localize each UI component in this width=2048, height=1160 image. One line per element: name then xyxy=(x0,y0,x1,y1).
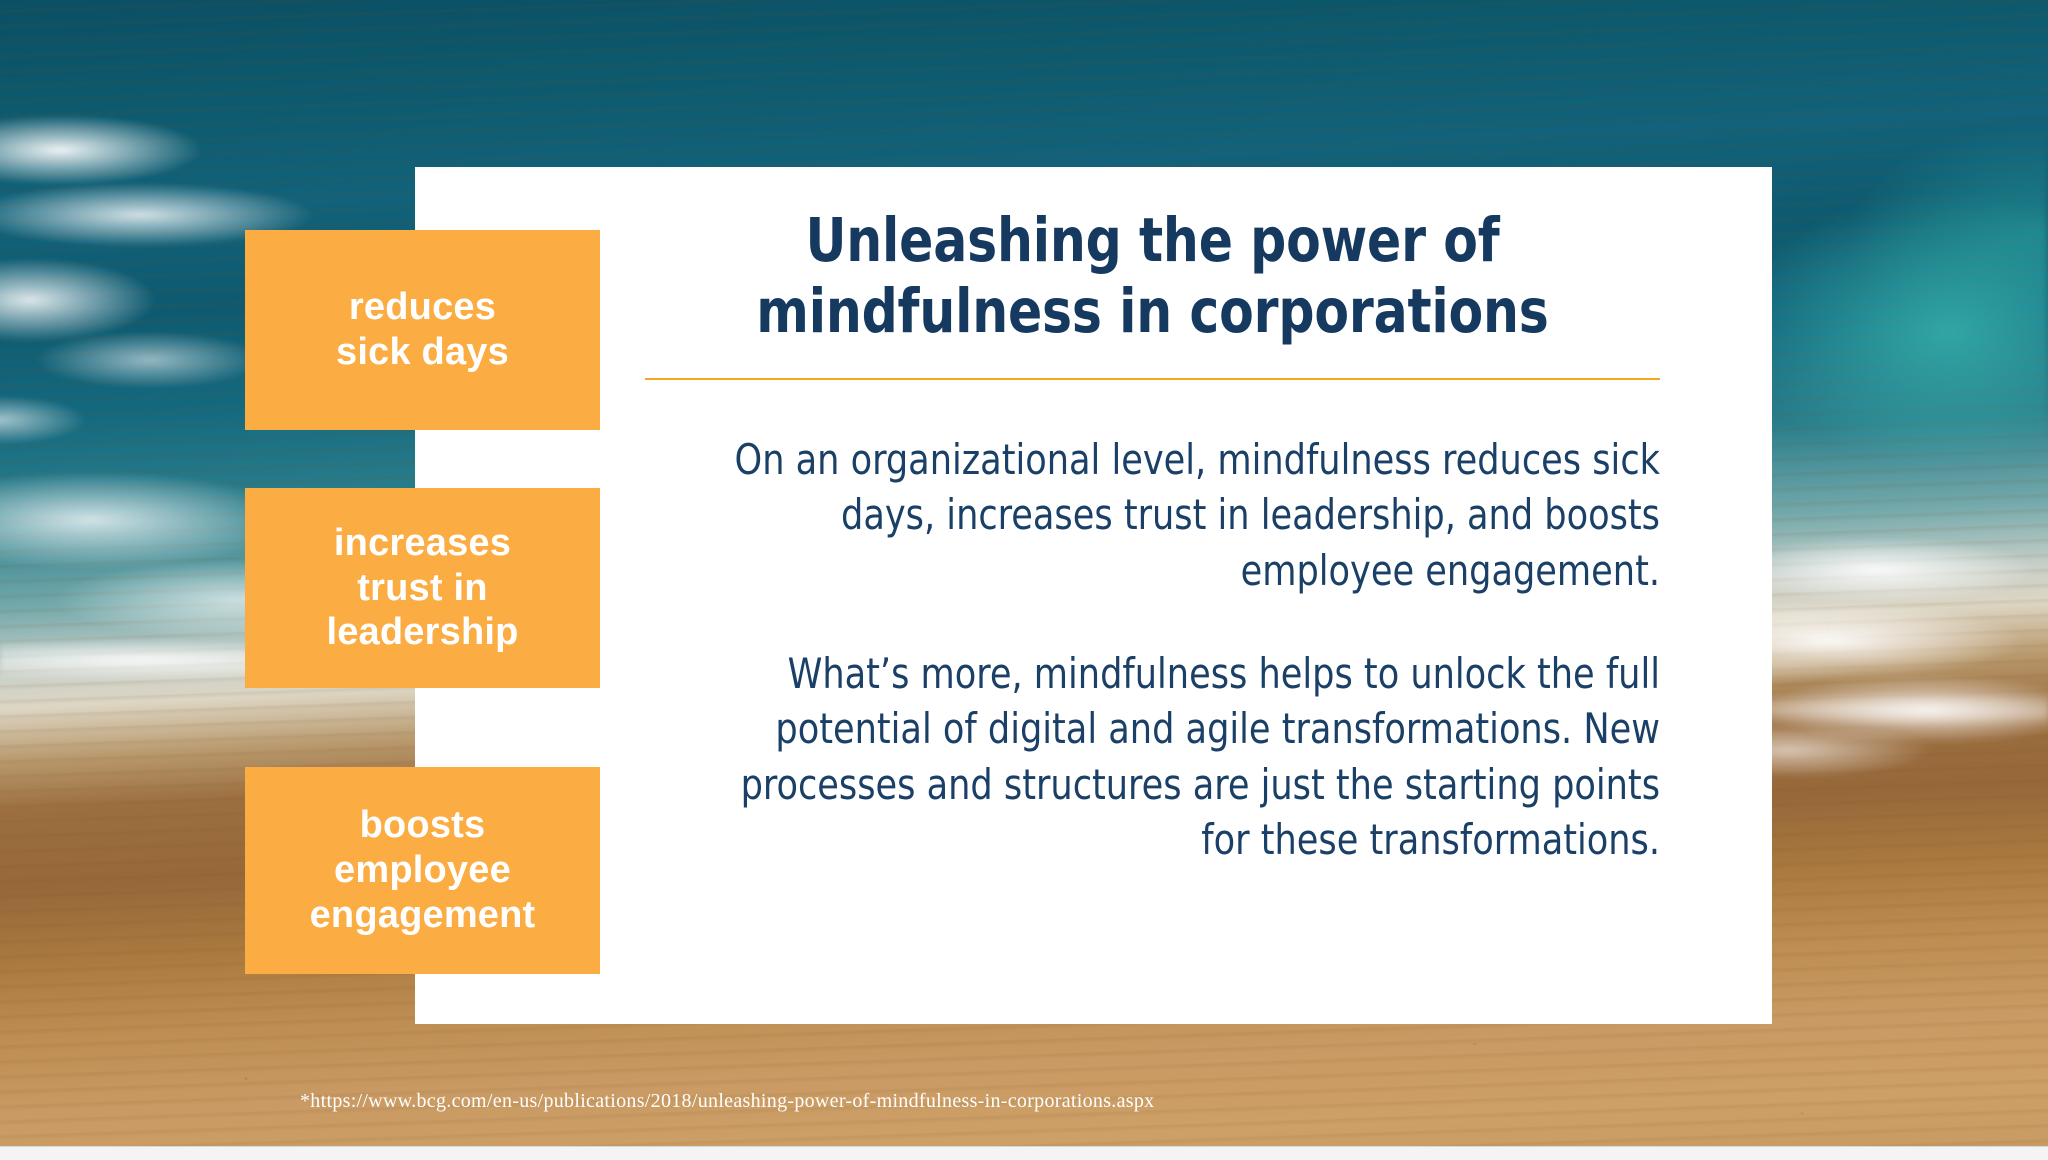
callout-line-3: engagement xyxy=(310,894,536,936)
callout-line-3: leadership xyxy=(326,611,518,653)
source-footnote: *https://www.bcg.com/en-us/publications/… xyxy=(300,1090,1154,1113)
callout-line-2: trust in xyxy=(357,567,487,609)
slide-canvas: Unleashing the power of mindfulness in c… xyxy=(0,0,2048,1160)
content-panel: Unleashing the power of mindfulness in c… xyxy=(415,167,1772,1024)
callout-increases-trust: increases trust in leadership xyxy=(245,488,600,688)
callout-text: boosts employee engagement xyxy=(310,803,536,937)
title-line-2: mindfulness in corporations xyxy=(756,276,1548,347)
title-line-1: Unleashing the power of xyxy=(805,205,1499,276)
callout-reduces-sick-days: reduces sick days xyxy=(245,230,600,430)
panel-inner: Unleashing the power of mindfulness in c… xyxy=(645,205,1660,1024)
callout-line-1: increases xyxy=(334,522,511,564)
body-paragraph-1: On an organizational level, mindfulness … xyxy=(716,432,1660,598)
callout-line-2: sick days xyxy=(336,331,509,373)
callout-text: increases trust in leadership xyxy=(326,521,518,655)
body-paragraph-2: What’s more, mindfulness helps to unlock… xyxy=(716,646,1660,868)
title-divider xyxy=(645,378,1660,380)
page-bottom-edge xyxy=(0,1146,2048,1160)
callout-line-1: reduces xyxy=(349,286,496,328)
callout-text: reduces sick days xyxy=(336,285,509,375)
callout-boosts-engagement: boosts employee engagement xyxy=(245,767,600,974)
body-text: On an organizational level, mindfulness … xyxy=(716,432,1660,868)
callout-line-1: boosts xyxy=(360,804,486,846)
callout-line-2: employee xyxy=(334,849,511,891)
page-title: Unleashing the power of mindfulness in c… xyxy=(686,205,1620,348)
